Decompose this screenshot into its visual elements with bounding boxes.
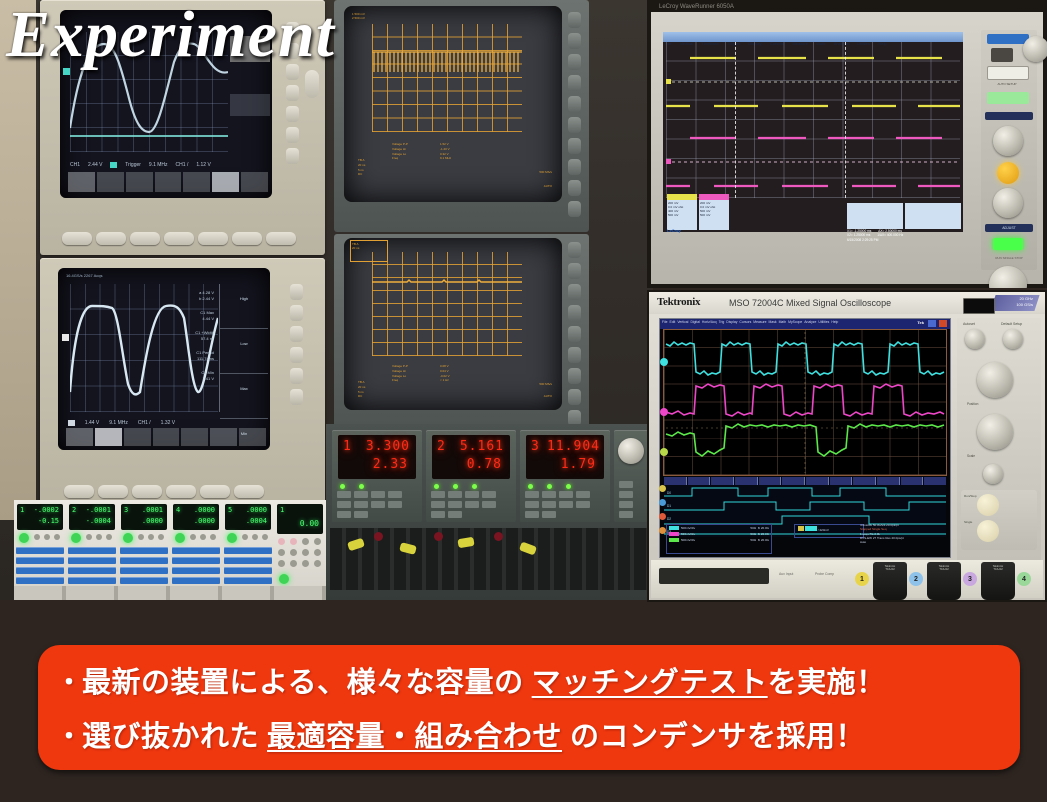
callout-line-2: ・ 選び抜かれた 最適容量・組み合わせ のコンデンサを採用！ [56,707,1010,761]
lecroy-readout-left [847,203,903,229]
green-5-keys[interactable] [242,534,268,540]
tek-front-label-1: Aux Input [779,572,793,576]
tek-acq-line-5: Auto [860,540,944,544]
green-ctrl-keypad[interactable] [278,538,322,567]
tek-menu-mask[interactable]: Mask [769,320,777,324]
green-ctrl-value: 0.00 [300,519,319,528]
tektronix-front-panel: Aux Input Probe Comp 1 TektronixTCA-N2 2… [651,560,1043,598]
tek-meas-1-label: 500mV/div [681,526,695,530]
green-module-3[interactable]: 3 .0001 .0000 [118,500,171,588]
tek-menu-help[interactable]: Help [831,320,838,324]
tektronix-info-bar: 500mV/div 50Ω Б 20.0G 500mV/div 50Ω Б 20… [664,522,946,554]
green-1-keys[interactable] [34,534,60,540]
crt-top-mode: AUTO [544,184,552,188]
green-1-secondary: -0.15 [38,517,59,525]
readout-freq: 9.1 MHz [149,162,168,168]
scope-bottom-side-menu[interactable]: High Low Max Min [219,284,268,412]
lecroy-control-panel: AUTO SETUP ADJUST RUN SINGLE STOP [981,30,1037,270]
lecroy-dark-button[interactable] [991,48,1013,62]
tektronix-control-panel: Autoset Default Setup Position Scale Run… [957,318,1041,560]
scope-top-softkeys[interactable] [68,172,268,192]
cursor-b-value: 2.44 V [202,296,214,301]
tek-run-label: Run/Stop [964,494,977,498]
photo-left-bench: CH1 2.44 V Trigger 9.1 MHz CH1 / 1.12 V [0,0,653,600]
scope-bottom-softkeys[interactable] [66,428,266,446]
readout-level: 1.12 V [196,162,210,168]
psu-module-1[interactable]: 1 3.300 2.33 [332,430,422,522]
tek-input-3[interactable]: 3 [963,564,979,592]
side-menu-high[interactable]: High [220,284,268,329]
scope-top-knob[interactable] [305,70,319,98]
tektronix-body: Tektronix MSO 72004C Mixed Signal Oscill… [649,292,1045,600]
readout-freq-b: 9.1 MHz [109,420,128,426]
green-4-power-lamp[interactable] [175,533,185,543]
crt-bottom-grid [372,252,522,356]
tek-meas-2-value: 50Ω [750,532,756,536]
tek-ch-marker-cyan [660,358,668,366]
tek-front-label-2: Probe Comp [815,572,834,576]
psu-2-keys[interactable] [431,491,511,518]
meas1-value: 4.44 V [195,316,214,322]
callout-line-1: ・ 最新の装置による、様々な容量の マッチングテスト を実施！ [56,653,1010,707]
tek-trigger-label: / 420mV [818,528,829,532]
psu-rack-red: 1 3.300 2.33 2 5.161 0.78 [326,424,653,600]
psu-2-secondary: 0.78 [467,457,502,472]
crt-bottom-meas-right: 0.08 V0.04 V-0.02 V< 1 Hz [440,364,450,383]
green-4-channel: 4 [176,506,180,514]
page-title: Experiment [6,2,335,68]
tek-menu-cursors[interactable]: Cursors [739,320,751,324]
psu-3-secondary: 1.79 [561,457,596,472]
photo-tektronix-scope: Tektronix MSO 72004C Mixed Signal Oscill… [647,290,1047,602]
terminal-red-2 [434,532,443,541]
tektronix-bus-row [664,477,946,485]
lecroy-top-label: LeCroy WaveRunner 6050A [659,4,734,10]
green-3-keys[interactable] [138,534,164,540]
tek-single-label: Single [964,520,972,524]
readout-ch: CH1 / [176,162,189,168]
lecroy-readout-right [905,203,961,229]
tektronix-brand: Tektronix [657,296,700,308]
psu-3-display: 3 11.904 1.79 [526,435,604,479]
psu-terminal-strip [330,528,649,590]
crt-bottom-chassis: TB A20 ns Voltage P-PVoltage HiVoltage L… [334,234,589,430]
green-5-channel: 5 [228,506,232,514]
psu-2-lamps [434,484,477,489]
lecroy-knob-1[interactable] [993,126,1023,156]
tek-input-4-number: 4 [1017,572,1031,586]
tek-meas-2-label: 500mV/div [681,532,695,536]
meas3-value: 111.74 ns [195,356,214,362]
wall-strip [0,0,36,520]
crt-top-screen: 1 500 mV2 500 mV Voltage P-PVoltage HiVo… [344,6,562,202]
tek-menu-edit[interactable]: Edit [669,320,675,324]
green-controller-module[interactable]: 1 0.00 [274,500,326,588]
green-2-value: -.0001 [86,506,111,514]
green-3-channel: 3 [124,506,128,514]
scope-bottom-side-buttons[interactable] [290,284,303,405]
green-1-channel: 1 [20,506,24,514]
green-4-value: .0000 [194,506,215,514]
crt-top-grid [372,24,522,132]
crt-top-side-buttons[interactable] [568,12,581,217]
green-2-channel: 2 [72,506,76,514]
tektronix-spec-text: 20 GHz 100 GS/s [1016,296,1033,307]
lecroy-section-bar-2: ADJUST [985,224,1033,232]
lecroy-cursor-2[interactable] [845,42,846,198]
tek-front-slot [659,568,769,584]
tek-d0-label: D0 [667,487,671,500]
tek-meas-3-value: 50Ω [750,538,756,542]
tek-input-4[interactable]: 4 [1017,564,1033,592]
photo-lecroy-scope: LeCroy WaveRunner 6050A File Vertical Ti… [647,0,1047,288]
green-module-4[interactable]: 4 .0000 .0000 [170,500,223,588]
psu-3-lamps [528,484,571,489]
psu-1-display: 1 3.300 2.33 [338,435,416,479]
tek-meas-3-extra: Б 20.0G [758,538,769,542]
tektronix-samplerate: 100 GS/s [1016,302,1033,307]
green-3-power-lamp[interactable] [123,533,133,543]
crt-top-corner-text: 1 500 mV2 500 mV [352,12,365,20]
tek-menu-digital[interactable]: Digital [690,320,699,324]
line1-segment-2-underlined: マッチングテスト [532,659,768,701]
lecroy-run-labels: RUN SINGLE STOP [985,256,1033,260]
lecroy-trace-magenta [666,128,960,198]
tek-meas-1-value: 50Ω [750,526,756,530]
tek-input-1[interactable]: 1 [855,564,871,592]
green-module-1[interactable]: 1 -.0002 -0.15 [14,500,67,588]
tektronix-analog-plot [664,330,946,475]
readout-coupling-badge [110,162,117,168]
tek-ch-marker-green [660,448,668,456]
psu-1-secondary: 2.33 [373,457,408,472]
slide-canvas: CH1 2.44 V Trigger 9.1 MHz CH1 / 1.12 V [0,0,1047,802]
green-module-5[interactable]: 5 .0000 .0004 [222,500,275,588]
readout-volts: 2.44 V [88,162,102,168]
readout-ch-b: CH1 / [138,420,151,426]
cursor-a-value: 4.28 V [202,290,214,295]
tek-menu-utilities[interactable]: Utilities [818,320,829,324]
green-2-secondary: -.0004 [86,517,111,525]
terminal-red-3 [494,532,503,541]
lecroy-screen: File Vertical Timebase Trigger Display C… [663,32,963,232]
tek-horizontal-knob[interactable] [977,414,1013,450]
close-icon[interactable] [939,320,947,327]
lecroy-section-bar-1 [985,112,1033,120]
terminal-red-1 [374,532,383,541]
psu-3-channel: 3 [531,439,540,454]
green-5-power-lamp[interactable] [227,533,237,543]
psu-1-keys[interactable] [337,491,417,518]
green-3-value: .0001 [142,506,163,514]
crt-bottom-meas-left: Voltage P-PVoltage HiVoltage LoFreq [392,364,408,383]
psu-1-value: 3.300 [366,439,410,454]
tek-input-1-number: 1 [855,572,869,586]
crt-top-meas-right: 1.52 V-1.20 V0.32 V9.1 MHz [440,142,451,161]
green-4-display: 4 .0000 .0000 [173,504,219,530]
green-1-value: -.0002 [34,506,59,514]
readout-badge [68,420,75,426]
psu-2-channel: 2 [437,439,446,454]
psu-module-3[interactable]: 3 11.904 1.79 [520,430,610,522]
banana-plug-3 [457,537,474,549]
lecroy-cursor-1[interactable] [735,42,736,198]
lecroy-ch1-box[interactable]: 200 mV0.0 mV ofst400 mV500 mV [667,194,697,230]
bullet-1: ・ [56,662,82,699]
lecroy-body: LeCroy WaveRunner 6050A File Vertical Ti… [651,12,1043,284]
tek-vertical-knob[interactable] [977,362,1013,398]
tek-input-3-number: 3 [963,572,977,586]
meas4-value: 1.41 V [195,376,214,382]
tek-menu-file[interactable]: File [662,320,667,324]
lecroy-invdx: 1/ΔX= 400.000 Hz [877,233,903,237]
psu-3-value: 11.904 [547,439,600,454]
tek-probe-2: TektronixTCA-N2 [927,562,961,600]
scope-top-menu-level[interactable] [230,94,270,116]
lecroy-button-label: AUTO SETUP [987,82,1027,91]
tektronix-acq-box: 4.0ns/div 50.0GS/s 20.0ps/pt Stopped Sin… [860,523,944,545]
lecroy-run-indicator [993,238,1023,250]
tektronix-measurement-box: 500mV/div 50Ω Б 20.0G 500mV/div 50Ω Б 20… [666,524,772,554]
tek-knob-label-1: Position [967,402,978,406]
psu-module-2[interactable]: 2 5.161 0.78 [426,430,516,522]
bullet-2: ・ [56,716,82,753]
banana-plug-1 [347,538,365,552]
tektronix-bandwidth: 20 GHz [1019,296,1033,301]
psu-3-keys[interactable] [525,491,605,518]
scope-bottom-header: 16.4GS/s 2267 Acqs [66,273,102,278]
tek-panel-label-2: Default Setup [1001,322,1022,326]
green-4-secondary: .0000 [194,517,215,525]
readout-volts-b: 1.44 V [85,420,99,426]
lecroy-menubar[interactable]: File Vertical Timebase Trigger Display C… [663,32,963,42]
psu-2-display: 2 5.161 0.78 [432,435,510,479]
green-5-secondary: .0004 [246,517,267,525]
crt-bottom-status: TB A20 ns5 nsDC [358,380,365,399]
crt-top-rate: 500 MS/s [539,170,552,174]
line2-segment-2-underlined: 最適容量・組み合わせ [267,713,562,755]
tek-input-2[interactable]: 2 [909,564,925,592]
green-3-secondary: .0000 [142,517,163,525]
tek-input-2-number: 2 [909,572,923,586]
crt-bottom-mode: AUTO [544,394,552,398]
psu-control-module[interactable] [614,430,648,522]
tek-probe-3: TektronixTCA-N2 [981,562,1015,600]
green-3-display: 3 .0001 .0000 [121,504,167,530]
tek-menu-display[interactable]: Display [726,320,737,324]
lecroy-knob-2[interactable] [993,188,1023,218]
tek-panel-label-1: Autoset [963,322,975,326]
tektronix-screen: File Edit Vertical Digital Horiz/Acq Tri… [659,318,951,558]
crt-bottom-rate: 500 MS/s [539,382,552,386]
crt-bottom-screen: TB A20 ns Voltage P-PVoltage HiVoltage L… [344,238,562,410]
tek-autoset-button[interactable] [965,329,985,349]
lecroy-amber-button[interactable] [997,162,1019,184]
tek-menu-math[interactable]: Math [779,320,787,324]
lecroy-blue-button[interactable] [987,34,1029,44]
tek-meas-row-3: 500mV/div 50Ω Б 20.0G [667,537,771,543]
crt-top-chassis: 1 500 mV2 500 mV Voltage P-PVoltage HiVo… [334,0,589,232]
line1-segment-1: 最新の装置による、様々な容量の [82,659,524,701]
tek-probe-1: TektronixTCA-N2 [873,562,907,600]
scope-bottom-readouts: 1.44 V 9.1 MHz CH1 / 1.32 V [68,420,175,426]
scope-bottom-bezel-buttons[interactable] [64,485,264,498]
tek-knob-label-2: Scale [967,454,975,458]
minimize-icon[interactable] [928,320,936,327]
lecroy-trace-yellow [666,46,960,126]
green-2-keys[interactable] [86,534,112,540]
banana-plug-4 [519,542,537,556]
tektronix-menu-items[interactable]: File Edit Vertical Digital Horiz/Acq Tri… [660,319,950,325]
lecroy-brand-logo: LeCroy [667,228,681,233]
psu-control-keys[interactable] [619,481,643,518]
green-rack-connectors [14,586,326,600]
tek-menu-measure[interactable]: Measure [753,320,766,324]
lecroy-big-knob[interactable] [989,266,1027,288]
tek-menu-myscope[interactable]: MyScope [788,320,802,324]
callout-box: ・ 最新の装置による、様々な容量の マッチングテスト を実施！ ・ 選び抜かれた… [38,645,1020,770]
crt-top-meas-left: Voltage P-PVoltage HiVoltage LoFreq [392,142,408,161]
psu-main-knob[interactable] [618,438,644,464]
green-ctrl-lamp[interactable] [279,574,289,584]
lecroy-edge-knob[interactable] [1023,36,1047,62]
green-module-2[interactable]: 2 -.0001 -.0004 [66,500,119,588]
psu-1-channel: 1 [343,439,352,454]
tek-small-knob[interactable] [983,464,1003,484]
tek-meas-1-extra: Б 20.0G [758,526,769,530]
green-1-power-lamp[interactable] [19,533,29,543]
meas2-value: 57.4 ns [195,336,214,342]
tek-run-stop-button[interactable] [977,494,999,516]
tek-meas-3-label: 500mV/div [681,538,695,542]
lecroy-green-button[interactable] [987,92,1029,104]
line2-segment-1: 選び抜かれた [82,713,259,755]
crt-bottom-trace [372,276,522,286]
tek-single-button[interactable] [977,520,999,542]
scope-top-bezel-buttons[interactable] [62,232,296,245]
tek-small-display [963,298,995,314]
side-menu-low[interactable]: Low [220,329,268,374]
banana-plug-2 [399,542,417,555]
tek-run-section: Run/Stop Single [961,490,1037,550]
tektronix-model: MSO 72004C Mixed Signal Oscilloscope [729,298,891,308]
cursor-a-label: a [199,290,201,295]
lecroy-cursor-values: X1= -1.25000 ms ΔX= 2.50000 ms X2= 1.250… [847,229,961,242]
green-4-keys[interactable] [190,534,216,540]
tektronix-analog-traces [664,330,946,475]
green-2-display: 2 -.0001 -.0004 [69,504,115,530]
tek-menu-vertical[interactable]: Vertical [677,320,688,324]
lecroy-ch2-box[interactable]: 200 mV0.0 mV ofst500 mV500 mV [699,194,729,230]
tek-d1-label: D1 [667,500,671,513]
channel-marker-bottom [62,334,69,341]
green-5-value: .0000 [246,506,267,514]
psu-2-value: 5.161 [460,439,504,454]
tek-ch-marker-magenta [660,408,668,416]
line2-segment-3: のコンデンサを採用！ [570,713,865,755]
green-1-display: 1 -.0002 -0.15 [17,504,63,530]
scope-bottom-chassis: 16.4GS/s 2267 Acqs a 4.28 V b 2.44 V C1 … [40,258,325,506]
lecroy-timestamp: 6/15/2008 2:29:25 PM [847,238,878,242]
green-ctrl-display: 1 0.00 [277,504,323,534]
green-2-power-lamp[interactable] [71,533,81,543]
lecroy-white-button[interactable] [987,66,1029,80]
tek-menu-horizacq[interactable]: Horiz/Acq [702,320,717,324]
readout-level-b: 1.32 V [161,420,175,426]
readout-channel: CH1 [70,162,80,168]
readout-trigger: Trigger [125,162,141,168]
tektronix-trigger-box: / 420mV [794,524,864,538]
tek-default-button[interactable] [1003,329,1023,349]
green-ctrl-channel: 1 [280,506,284,514]
scope-top-readouts: CH1 2.44 V Trigger 9.1 MHz CH1 / 1.12 V [70,162,266,168]
scope-bottom-measurements: a 4.28 V b 2.44 V C1 Max 4.44 V C1 +Widt… [195,290,214,382]
crt-top-trace [372,48,522,74]
green-5-display: 5 .0000 .0004 [225,504,271,530]
side-menu-max[interactable]: Max [220,374,268,419]
tek-menu-trig[interactable]: Trig [719,320,725,324]
tektronix-corner-label: Tek [917,320,924,325]
tek-meas-2-extra: Б 20.0G [758,532,769,536]
crt-bottom-label-box: TB A20 ns [350,240,388,262]
scope-bottom-screen: 16.4GS/s 2267 Acqs a 4.28 V b 2.44 V C1 … [58,268,270,450]
crt-bottom-side-buttons[interactable] [568,242,581,426]
green-supply-rack: 1 -.0002 -0.15 2 -.0001 -.0004 [14,500,326,588]
crt-top-status: TB A20 ns5 nsDC [358,158,365,177]
psu-1-lamps [340,484,364,489]
line1-segment-3: を実施！ [768,659,886,701]
tek-menu-analyze[interactable]: Analyze [804,320,816,324]
tektronix-menubar[interactable]: File Edit Vertical Digital Horiz/Acq Tri… [660,319,950,329]
cursor-b-label: b [199,296,201,301]
